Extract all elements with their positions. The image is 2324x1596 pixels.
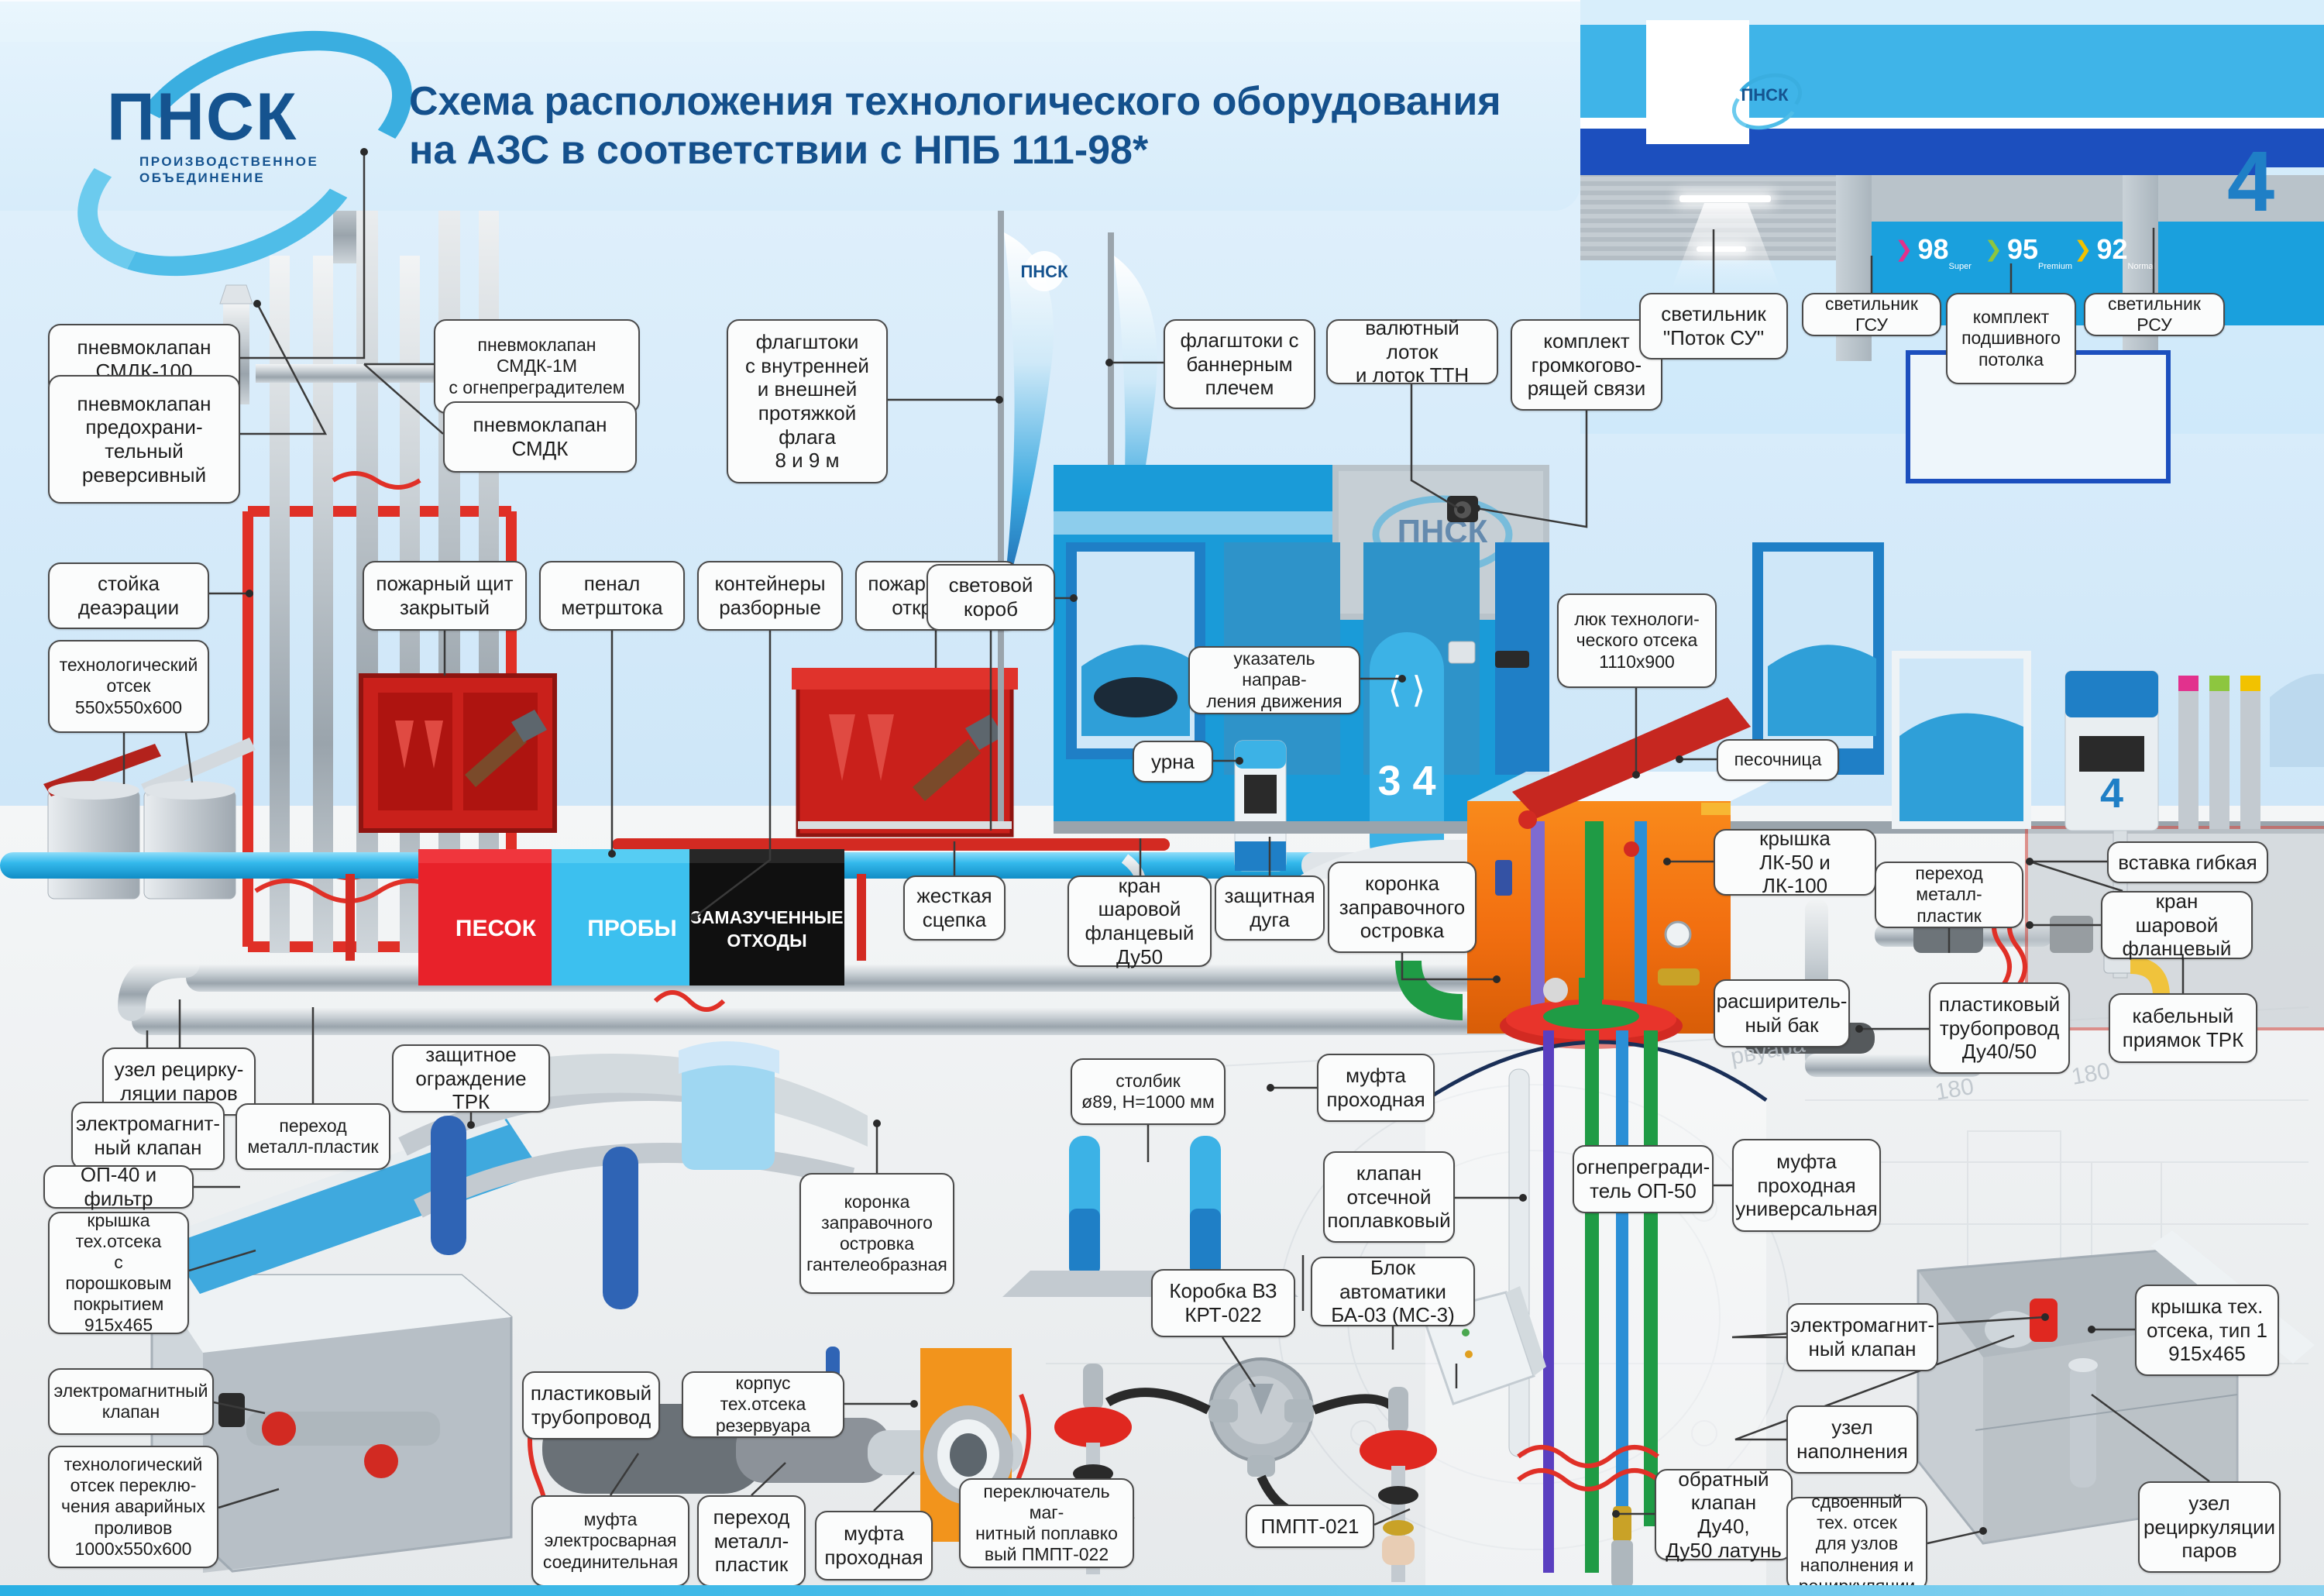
callout-klapan-otsechnoy-poplavkovyy: клапан отсечной поплавковый xyxy=(1323,1151,1455,1243)
callout-urna: урна xyxy=(1133,741,1213,783)
canopy-lamp-2-icon xyxy=(1697,246,1746,252)
fuel-grade-95-name: Premium xyxy=(2038,262,2072,271)
callout-perehod-metall-plastik-1: переход металл-пластик xyxy=(1875,862,2023,928)
callout-zashchitnaya-duga: защитная дуга xyxy=(1215,875,1325,941)
title-line-1: Схема расположения технологического обор… xyxy=(409,77,1509,126)
callout-zashchitnoe-ograzhdenie-trk: защитное ограждение ТРК xyxy=(392,1044,550,1113)
svg-text:4: 4 xyxy=(2100,770,2123,817)
canopy-logo: ПНСК xyxy=(1730,74,1800,115)
fuel-grade-98-name: Super xyxy=(1949,262,1972,271)
callout-pnevmoklapan-smdk-1m: пневмоклапан СМДК-1М с огнепреградителем xyxy=(434,319,640,414)
callout-svetilnik-rsu: светильник РСУ xyxy=(2084,293,2225,336)
callout-flagshtoki-protyazhka: флагштоки с внутренней и внешней протяжк… xyxy=(727,319,888,483)
callout-svetilnik-gsu: светильник ГСУ xyxy=(1802,293,1941,336)
fuel-grade-98-number: 98 xyxy=(1917,233,1948,265)
svg-text:⟨ ⟩: ⟨ ⟩ xyxy=(1388,669,1426,710)
callout-plastikovyy-truboprovod-4050: пластиковый трубопровод Ду40/50 xyxy=(1929,982,2070,1074)
callout-flagshtoki-banner: флагштоки с баннерным плечем xyxy=(1164,319,1315,409)
canopy-lamp-1-icon xyxy=(1679,195,1771,202)
callout-kryshka-lk-50-100: крышка ЛК-50 и ЛК-100 xyxy=(1714,829,1876,896)
callout-stoyka-deaeracii: стойка деаэрации xyxy=(48,562,209,629)
callout-pozharny-shchit-zakrytyy: пожарный щит закрытый xyxy=(363,561,527,631)
callout-kryshka-teh-otseka-poroshok: крышка тех.отсека с порошковым покрытием… xyxy=(48,1212,189,1334)
svg-text:3 4: 3 4 xyxy=(1377,758,1435,804)
chevron-right-icon: ❯ xyxy=(2074,239,2092,260)
callout-valyutny-lotok: валютный лоток и лоток ТТН xyxy=(1326,319,1498,384)
brand-subtitle: ПРОИЗВОДСТВЕННОЕ ОБЪЕДИНЕНИЕ xyxy=(139,153,318,187)
brand-logo: ПНСК ПРОИЗВОДСТВЕННОЕ ОБЪЕДИНЕНИЕ xyxy=(46,23,380,186)
callout-tehnologicheskiy-otsek-550: технологический отсек 550х550х600 xyxy=(48,640,209,733)
canopy-logo-panel: ПНСК xyxy=(1646,20,1749,144)
svg-text:ОТХОДЫ: ОТХОДЫ xyxy=(727,930,806,951)
brand-subtitle-line1: ПРОИЗВОДСТВЕННОЕ xyxy=(139,153,318,170)
callout-perehod-metall-plastik-2: переход металл-пластик xyxy=(235,1103,390,1170)
fuel-grade-row: ❯ 98 Super ❯ 95 Premium ❯ 92 Normal xyxy=(1895,236,2150,263)
callout-kran-sharovoy-flancevyy-du50: кран шаровой фланцевый Ду50 xyxy=(1067,875,1212,967)
fuel-grade-95: ❯ 95 Premium xyxy=(1985,236,2039,263)
callout-koronka-gantelеobraznaya: коронка заправочного островка гантелеобр… xyxy=(799,1173,954,1294)
callout-elektromagnitnyy-klapan-1: электромагнит- ный клапан xyxy=(71,1102,225,1170)
callout-tehnologicheskiy-otsek-1000: технологический отсек переклю- чения ава… xyxy=(48,1446,218,1568)
svg-text:ПНСК: ПНСК xyxy=(1020,262,1068,281)
chevron-right-icon: ❯ xyxy=(1985,239,2003,260)
poster-root: ПЕСОК ПРОБЫ ЗАМАЗУЧЕННЫЕ ОТХОДЫ ПНСК xyxy=(0,0,2324,1596)
callout-penal-metrshtoka: пенал метрштока xyxy=(539,561,685,631)
callout-koronka-zapravochnogo: коронка заправочного островка xyxy=(1328,862,1477,953)
fuel-grade-92-name: Normal xyxy=(2128,262,2155,271)
callout-svetilnik-potok-su: светильник "Поток СУ" xyxy=(1639,293,1788,359)
callout-blok-avtomatiki-ba-03: Блок автоматики БА-03 (МС-3) xyxy=(1311,1257,1475,1326)
fuel-grade-95-number: 95 xyxy=(2007,233,2038,265)
callout-pnevmoklapan-predohr: пневмоклапан предохрани- тельный реверси… xyxy=(48,375,240,504)
callout-obratnyy-klapan-du40-du50: обратный клапан Ду40, Ду50 латунь xyxy=(1655,1469,1793,1560)
svg-text:ПЕСОК: ПЕСОК xyxy=(456,916,537,941)
callout-elektromagnitnyy-klapan-3: электромагнит- ный клапан xyxy=(1786,1303,1938,1371)
brand-name: ПНСК xyxy=(107,79,298,156)
callout-pesochnitsa: песочница xyxy=(1717,739,1839,781)
svg-text:ЗАМАЗУЧЕННЫЕ: ЗАМАЗУЧЕННЫЕ xyxy=(690,907,843,927)
fuel-grade-92-number: 92 xyxy=(2097,233,2128,265)
callout-ukazatel-napravleniya: указатель направ- ления движения xyxy=(1188,646,1360,714)
callout-pereklyuchatel-pmpt-022: переключатель маг- нитный поплавко вый П… xyxy=(959,1478,1134,1568)
callout-komplekt-podshivnogo-potolka: комплект подшивного потолка xyxy=(1946,293,2076,384)
callout-op-40-i-filtr: ОП-40 и фильтр xyxy=(43,1165,194,1209)
callout-zhestkaya-stsepka: жесткая сцепка xyxy=(903,875,1006,941)
callout-korpus-teh-otseka-rezervuara: корпус тех.отсека резервуара xyxy=(682,1371,844,1438)
callout-uzel-recirkulyacii-parov-2: узел рециркуляции паров xyxy=(2138,1481,2281,1573)
callout-mufta-prohodnaya-2: муфта проходная xyxy=(815,1511,933,1581)
bay-number: 4 xyxy=(2227,139,2274,225)
callout-kryshka-teh-otseka-tip1: крышка тех. отсека, тип 1 915х465 xyxy=(2135,1285,2279,1376)
fuel-grade-98: ❯ 98 Super xyxy=(1895,236,1949,263)
fuel-grade-92: ❯ 92 Normal xyxy=(2074,236,2128,263)
callout-mufta-prohodnaya-1: муфта проходная xyxy=(1317,1054,1435,1122)
callout-mufta-elektrosvarnaya: муфта электросварная соединительная xyxy=(531,1495,689,1587)
callout-mufta-prohodnaya-univers: муфта проходная универсальная xyxy=(1732,1139,1881,1232)
svg-text:ПРОБЫ: ПРОБЫ xyxy=(587,916,676,941)
callout-lyuk-tehnologicheskogo-otseka: люк технологи- ческого отсека 1110х900 xyxy=(1557,593,1717,688)
page-title: Схема расположения технологического обор… xyxy=(409,77,1509,176)
callout-elektromagnitnyy-klapan-2: электромагнитный клапан xyxy=(48,1368,214,1435)
callout-uzel-napolneniya: узел наполнения xyxy=(1786,1405,1918,1474)
callout-rasshiritelnyy-bak: расширитель- ный бак xyxy=(1714,979,1850,1047)
brand-subtitle-line2: ОБЪЕДИНЕНИЕ xyxy=(139,170,318,186)
callout-ognepregraditel-op-50: огнепрегради- тель ОП-50 xyxy=(1573,1145,1714,1213)
bottom-accent-bar xyxy=(0,1585,2324,1596)
callout-konteynery-razbornye: контейнеры разборные xyxy=(697,561,843,631)
callout-plastikovyy-truboprovod: пластиковый трубопровод xyxy=(522,1371,660,1439)
callout-pnevmoklapan-smdk: пневмоклапан СМДК xyxy=(443,401,637,473)
callout-pmpt-021: ПМПТ-021 xyxy=(1246,1505,1374,1548)
callout-stolbik-89: столбик ø89, H=1000 мм xyxy=(1071,1058,1226,1125)
chevron-right-icon: ❯ xyxy=(1895,239,1913,260)
callout-kabelnyy-priyamok-trk: кабельный приямок ТРК xyxy=(2109,993,2257,1063)
callout-svetovoy-korob: световой короб xyxy=(927,564,1055,631)
callout-kran-sharovoy-flancevyy: кран шаровой фланцевый xyxy=(2101,891,2253,959)
callout-sdvoennyy-teh-otsek: сдвоенный тех. отсек для узлов наполнени… xyxy=(1786,1497,1927,1591)
title-line-2: на АЗС в соответствии с НПБ 111-98* xyxy=(409,126,1509,175)
callout-korobka-vz-krt-022: Коробка ВЗ КРТ-022 xyxy=(1151,1269,1295,1337)
callout-perehod-metall-plastik-3: переход металл- пластик xyxy=(697,1495,806,1587)
canopy-brand-name: ПНСК xyxy=(1730,85,1800,105)
callout-vstavka-gibkaya: вставка гибкая xyxy=(2107,841,2268,883)
